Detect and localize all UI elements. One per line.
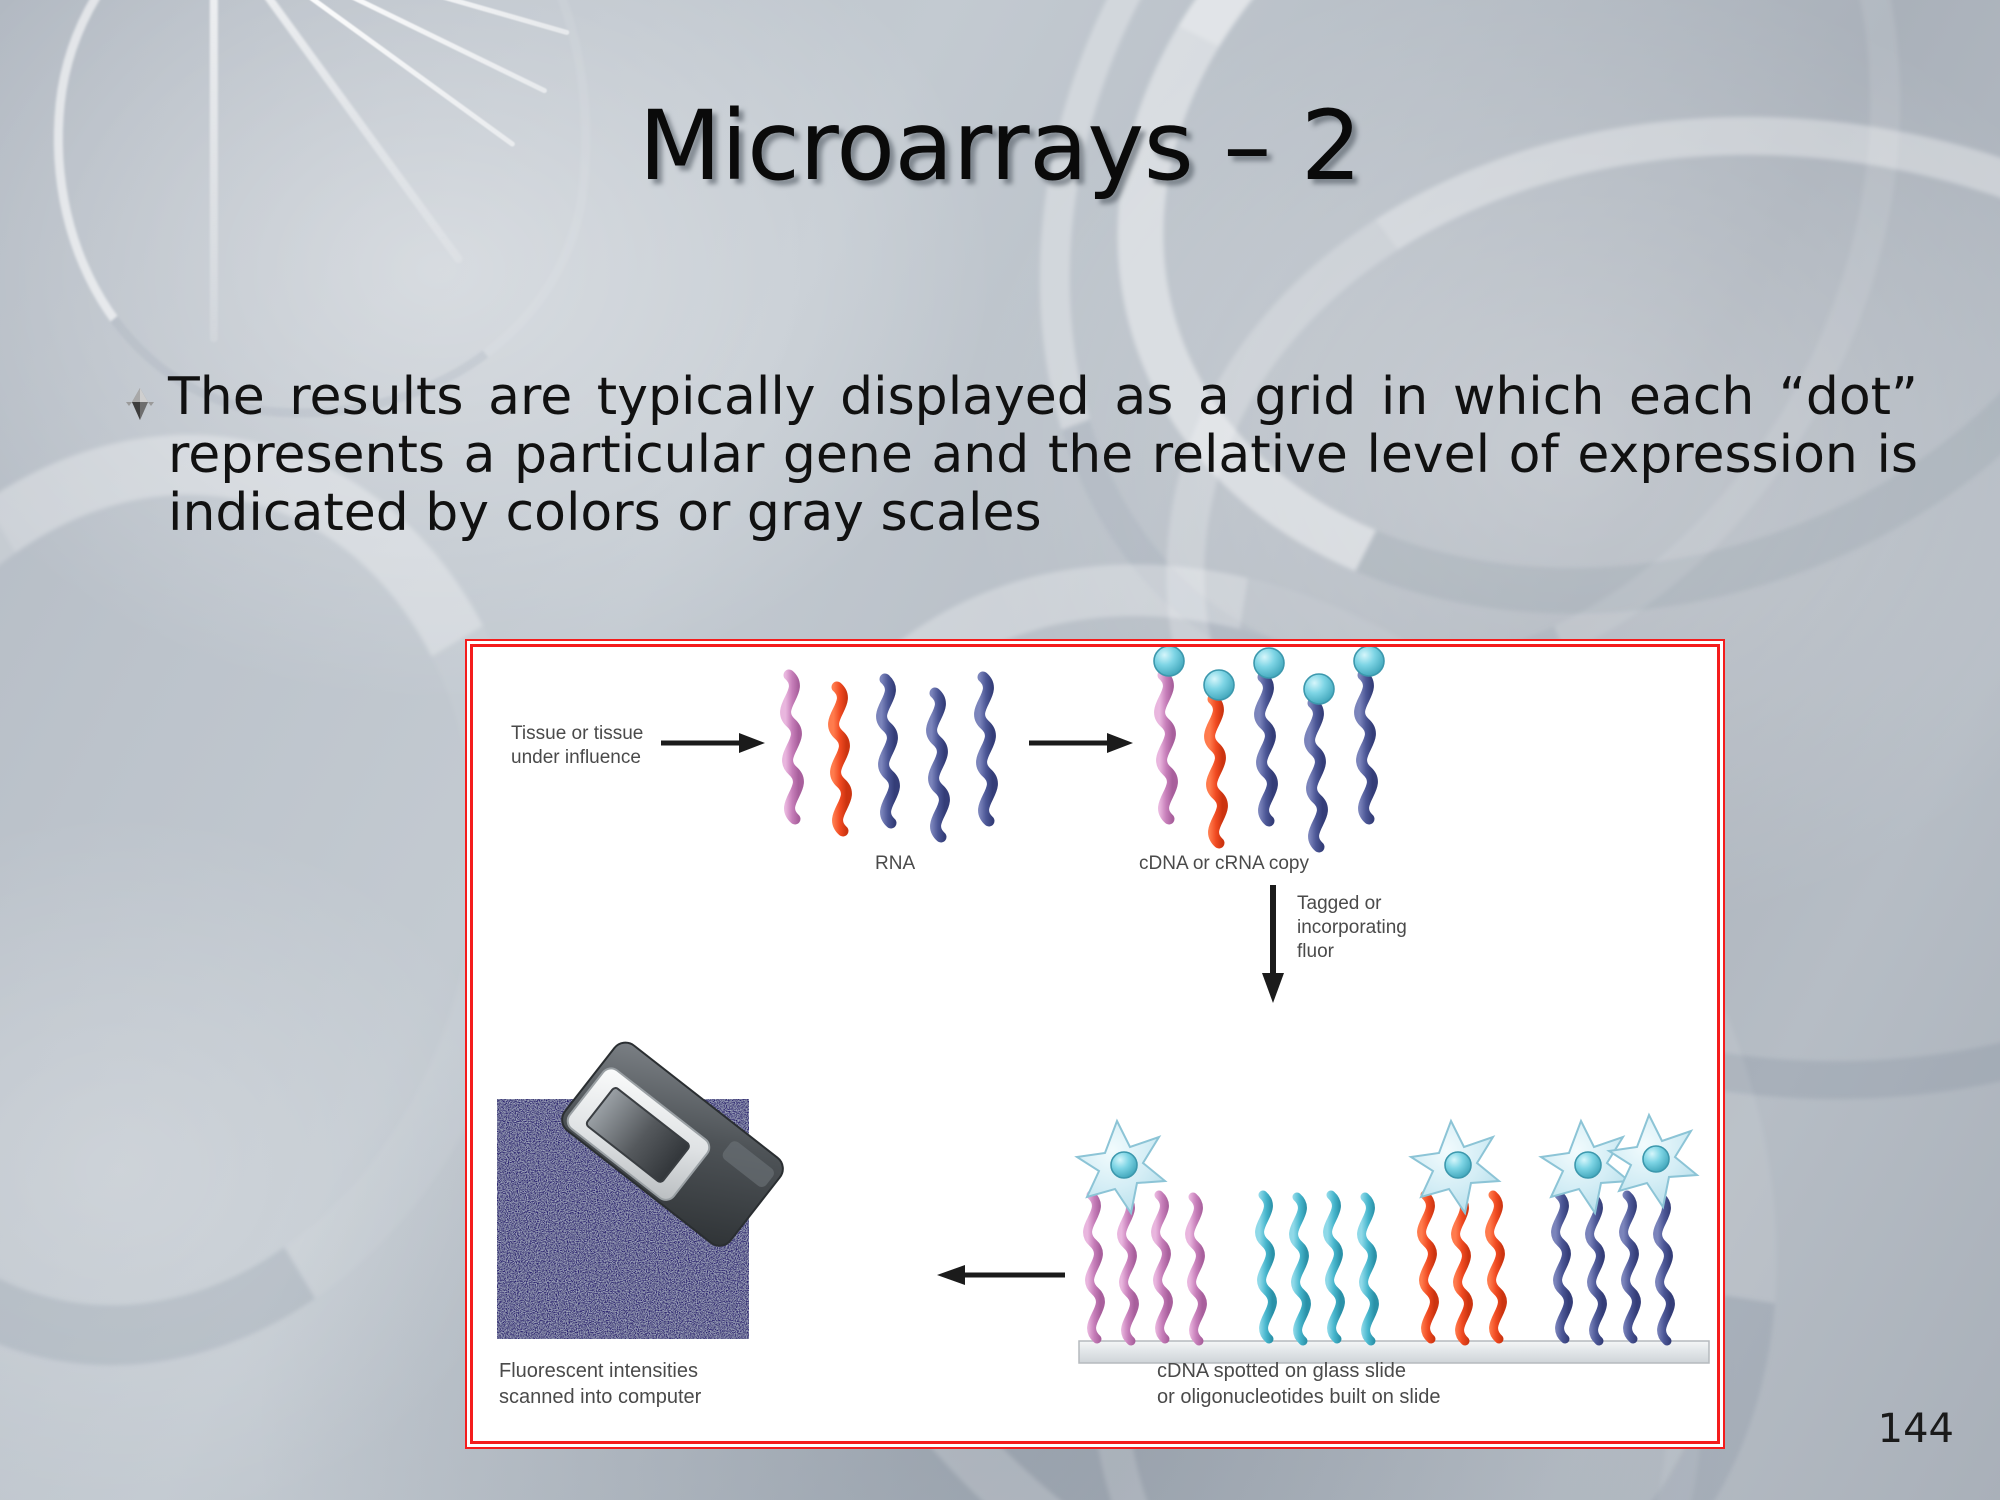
arrow-tissue-to-rna (661, 733, 765, 753)
figure-label-tissue-line2: under influence (511, 747, 641, 768)
slide-title: Microarrays – 2 (0, 96, 2000, 197)
microarray-workflow-illustration: Tissue or tissue under influence RNA cDN… (473, 647, 1717, 1441)
slide-canvas: Microarrays – 2 The results are typicall… (0, 0, 2000, 1500)
slide-spot-group-orange (1411, 1121, 1502, 1341)
arrow-tagging-down (1262, 885, 1284, 1003)
slide-spot-group-cyan (1260, 1195, 1375, 1341)
microarray-workflow-figure: Tissue or tissue under influence RNA cDN… (470, 644, 1720, 1444)
rna-strand-group (786, 675, 993, 837)
bullet-text: The results are typically displayed as a… (168, 368, 1918, 543)
hybridised-target-star (1541, 1121, 1629, 1213)
figure-label-tagged-line1: Tagged or (1297, 893, 1382, 914)
figure-label-tagged-line2: incorporating (1297, 917, 1407, 938)
figure-label-slide-line2: or oligonucleotides built on slide (1157, 1386, 1441, 1408)
arrow-slide-to-scanner (937, 1265, 1065, 1285)
figure-label-tagged-line3: fluor (1297, 941, 1335, 962)
arrow-rna-to-cdna (1029, 733, 1133, 753)
page-number: 144 (1878, 1406, 1954, 1452)
cdna-strand-group (1154, 647, 1384, 847)
figure-label-rna: RNA (875, 853, 915, 874)
figure-label-fluorescent-line1: Fluorescent intensities (499, 1360, 698, 1382)
figure-label-slide-line1: cDNA spotted on glass slide (1157, 1360, 1406, 1382)
figure-label-cdna-copy: cDNA or cRNA copy (1139, 853, 1309, 874)
figure-label-tissue-line1: Tissue or tissue (511, 723, 643, 744)
slide-spot-group-pink (1077, 1121, 1202, 1341)
slide-spot-group-navy (1541, 1115, 1697, 1341)
bullet-list: The results are typically displayed as a… (118, 368, 1918, 543)
hybridised-target-star (1609, 1115, 1697, 1207)
diamond-bullet-icon (118, 382, 162, 426)
figure-label-fluorescent-line2: scanned into computer (499, 1386, 702, 1408)
